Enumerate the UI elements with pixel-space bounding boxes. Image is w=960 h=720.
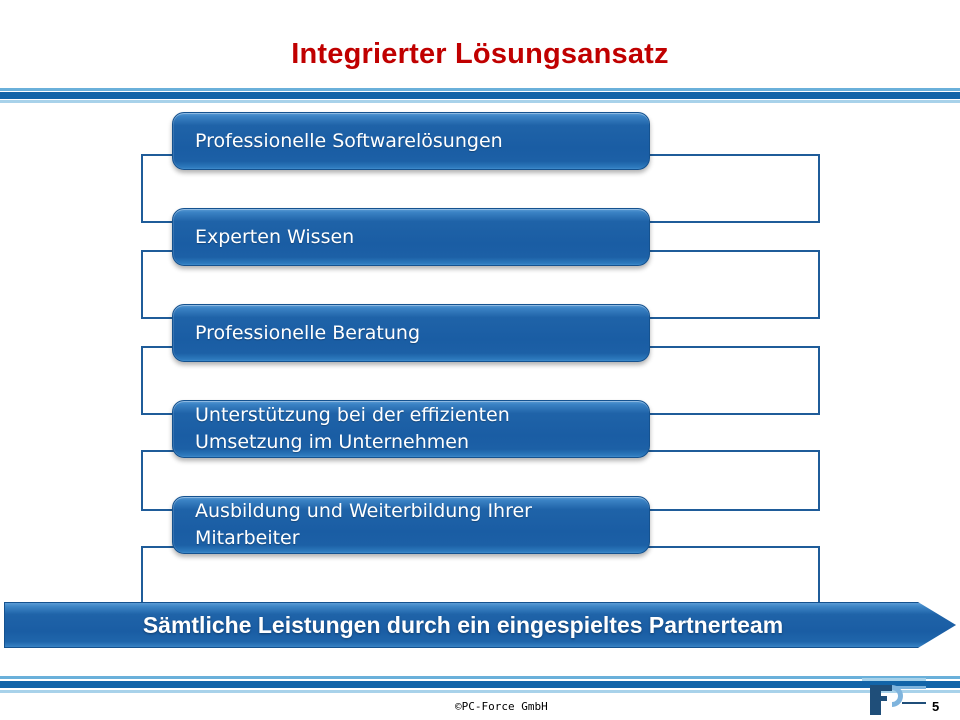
pc-force-logo-icon — [862, 676, 926, 718]
row-bracket-outline — [141, 546, 820, 607]
summary-arrow-banner[interactable]: Sämtliche Leistungen durch ein eingespie… — [4, 602, 956, 648]
diagram-item-5[interactable]: Ausbildung und Weiterbildung Ihrer Mitar… — [172, 496, 650, 554]
diagram-item-label: Professionelle Beratung — [195, 320, 420, 347]
diagram-item-label: Experten Wissen — [195, 224, 354, 251]
divider-line-dark — [0, 92, 960, 99]
diagram-item-label: Unterstützung bei der effizienten Umsetz… — [195, 402, 510, 456]
divider-line-light — [0, 676, 960, 679]
diagram-item-1[interactable]: Professionelle Softwarelösungen — [172, 112, 650, 170]
diagram-item-3[interactable]: Professionelle Beratung — [172, 304, 650, 362]
divider-line-light — [0, 88, 960, 91]
summary-banner-text: Sämtliche Leistungen durch ein eingespie… — [143, 612, 783, 639]
footer-divider — [0, 676, 960, 694]
diagram-item-2[interactable]: Experten Wissen — [172, 208, 650, 266]
diagram-item-4[interactable]: Unterstützung bei der effizienten Umsetz… — [172, 400, 650, 458]
divider-line-dark — [0, 681, 960, 688]
divider-line-pale — [0, 690, 960, 693]
divider-line-pale — [0, 100, 960, 103]
diagram-item-label: Professionelle Softwarelösungen — [195, 128, 503, 155]
diagram-item-label: Ausbildung und Weiterbildung Ihrer Mitar… — [195, 498, 532, 552]
page-title: Integrierter Lösungsansatz — [0, 38, 960, 71]
header-divider — [0, 88, 960, 104]
page-number: 5 — [932, 699, 939, 714]
process-diagram: Professionelle Softwarelösungen Experten… — [0, 104, 960, 594]
footer-copyright: ©PC-Force GmbH — [455, 700, 548, 713]
